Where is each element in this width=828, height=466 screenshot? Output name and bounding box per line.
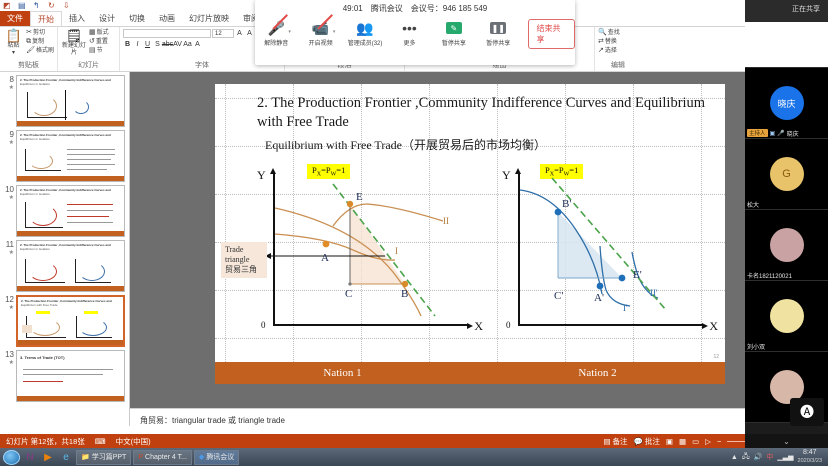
grow-font-icon[interactable]: A [235,29,244,38]
x-axis-line [273,324,467,326]
ribbon-group-clipboard: 📋 粘贴 ▾ ✂剪切 ⧉复制 🖌格式刷 剪贴板 [0,27,58,71]
thumbnail-card[interactable]: 2. The Production Frontier ,Community In… [16,75,125,127]
nation-1-label: Nation 1 [215,362,470,384]
animation-star-icon: ★ [2,359,14,368]
reading-view-icon[interactable]: ▭ [692,437,699,446]
x-axis-line [518,324,702,326]
thumbnail-item-selected[interactable]: 12★ 2. The Production Frontier ,Communit… [0,292,129,347]
slide-count-label: 幻灯片 第12张，共18张 [6,436,85,447]
thumbnail-number: 13★ [2,350,16,402]
bold-icon[interactable]: B [123,40,132,49]
thumbnail-artwork [21,90,120,119]
chevron-down-icon: ⌄ [783,437,790,446]
onenote-icon[interactable]: N [22,450,38,465]
point-A-prime-marker [597,283,604,290]
share-pause-control[interactable]: ❚❚ 暂停共享 [477,19,519,47]
ribbon-group-editing: 🔍查找 ⇄替换 ↗选择 编辑 [595,27,641,71]
ribbon-group-slides: 🗒 新建幻灯片 ▦版式 ↺重置 ▤节 幻灯片 [58,27,120,71]
tab-transitions-label: 切换 [129,13,145,24]
participant-name: 晓庆 [787,129,799,138]
ime-icon[interactable]: 中 [766,452,773,462]
point-label-C: C [345,288,352,300]
tab-transitions[interactable]: 切换 [122,11,152,26]
video-panel-header: 正在共享 [745,0,828,22]
sharing-status-badge: 正在共享 [786,2,826,16]
meeting-header: 49:01 腾讯会议 会议号：946 185 549 [255,0,575,17]
thumbnail-card[interactable]: 2. The Production Frontier ,Community In… [16,130,125,182]
format-painter-button[interactable]: 🖌格式刷 [26,47,54,55]
screen-root: ◩ ▤ ↰ ↻ ⇩ 文件 开始 插入 设计 切换 动画 幻灯片放映 审阅 视图 … [0,0,828,466]
tencent-meeting-icon: ◆ [199,453,204,461]
animation-star-icon: ★ [2,304,14,313]
participant-name: 卡名1821120021 [747,271,792,280]
windows-start-icon[interactable] [3,450,20,465]
shadow-icon[interactable]: S [153,40,162,49]
zoom-out-button[interactable]: − [717,437,721,446]
chart-nation-1[interactable]: Y X 0 PX=PW=1 [245,164,475,344]
powerpoint-window: ◩ ▤ ↰ ↻ ⇩ 文件 开始 插入 设计 切换 动画 幻灯片放映 审阅 视图 … [0,0,745,466]
camera-control-label: 开启视频 [309,38,333,47]
video-tile-list[interactable]: 晓庆 主持人 ▣ 🎤 晓庆 G 松大 卡名1821120021 [745,22,828,434]
save-icon[interactable]: ▤ [18,1,27,10]
indifference-curve-I [600,246,630,306]
more-dots-icon: ••• [402,19,417,37]
thumbnail-footer-bar [18,340,123,345]
tab-slideshow[interactable]: 幻灯片放映 [182,11,236,26]
thumbnail-artwork [21,255,120,284]
thumbnail-item[interactable]: 8★ 2. The Production Frontier ,Community… [0,72,129,127]
participant-nameplate: 刘小双 [745,341,828,351]
meeting-toolbar[interactable]: 49:01 腾讯会议 会议号：946 185 549 🎤▾ 解除静音 📹▾ 开启… [255,0,575,65]
paste-caret-icon[interactable]: ▾ [12,50,15,57]
trade-triangle-en: Trade triangle [225,245,263,265]
y-axis-label: Y [502,168,511,183]
spellcheck-icon[interactable]: ⌨ [95,437,106,446]
underline-icon[interactable]: U [143,40,152,49]
share-annotate-control[interactable]: ✎ 暂停共享 [433,19,475,47]
video-participants-panel: 正在共享 晓庆 主持人 ▣ 🎤 晓庆 G 松大 [745,0,828,448]
slideshow-icon[interactable]: ▷ [705,437,711,446]
animation-star-icon: ★ [2,249,14,258]
thumbnail-number-text: 9 [10,130,14,139]
taskbar-item-meeting[interactable]: ◆腾讯会议 [194,450,239,465]
volume-icon[interactable]: 🔊 [754,453,763,461]
sorter-view-icon[interactable]: ▦ [679,437,686,446]
tab-file-label: 文件 [7,13,23,24]
participant-name: 松大 [747,200,759,209]
camera-off-icon: 📹▾ [312,19,329,37]
section-label: 节 [97,47,103,55]
thumbnail-card[interactable]: 3. Terms of Trade (TOT) [16,350,125,402]
redo-icon[interactable]: ↻ [48,1,57,10]
avatar-text: 晓庆 [777,97,795,110]
point-E-prime-marker [619,275,626,282]
nation-2-label: Nation 2 [470,362,725,384]
thumbnail-artwork [21,200,120,229]
tab-design-label: 设计 [99,13,115,24]
thumbnail-card[interactable]: 2. The Production Frontier ,Community In… [16,185,125,237]
slide-page-number: 12 [713,354,719,360]
slide-thumbnail-panel[interactable]: 8★ 2. The Production Frontier ,Community… [0,72,130,426]
x-axis-label: X [709,319,718,334]
video-tile[interactable]: 卡名1821120021 [745,210,828,281]
find-label: 查找 [608,29,620,37]
thumbnail-title: 3. Terms of Trade (TOT) [17,351,124,360]
avatar [770,299,804,333]
tab-home-label: 开始 [38,14,54,25]
change-case-icon[interactable]: Aa [183,40,192,49]
reset-icon: ↺ [89,38,95,46]
thumbnail-subtitle: Equilibrium in Isolation [17,137,124,141]
tab-home[interactable]: 开始 [30,11,62,26]
nation-footer-bar: Nation 1 Nation 2 [215,362,725,384]
meeting-id-label: 会议号：946 185 549 [411,3,488,14]
thumbnail-item[interactable]: 9★ 2. The Production Frontier ,Community… [0,127,129,182]
participant-nameplate: 松大 [745,199,828,209]
system-tray: ▲ 🖧 🔊 中 ▁▃▅ 8:47 2020/3/23 [731,449,825,465]
curve-label-I: I [395,246,398,256]
clock-date: 2020/3/23 [798,458,822,464]
section-icon: ▤ [89,47,96,55]
font-name-input[interactable] [123,29,211,38]
taskbar-item-folder-label: 学习篇PPT [92,452,127,462]
thumbnail-footer-bar [17,396,124,401]
italic-icon[interactable]: I [133,40,142,49]
x-axis-arrow-icon [702,323,708,329]
tab-design[interactable]: 设计 [92,11,122,26]
share-on-icon: ✎ [446,19,462,37]
replace-button[interactable]: ⇄替换 [598,38,620,46]
price-tag-nation-2: PX=PW=1 [540,164,583,179]
host-badge: 主持人 [747,129,768,137]
paste-button[interactable]: 📋 粘贴 ▾ [3,29,24,57]
select-icon: ↗ [598,47,604,55]
chart-nation-2[interactable]: Y X 0 PX=PW=1 [490,164,710,344]
font-size-input[interactable]: 12 [212,29,234,38]
thumbnail-number: 12★ [2,295,16,347]
share-annotate-label: 暂停共享 [442,38,466,47]
trade-triangle-callout: Trade triangle 贸易三角 [221,242,267,278]
y-axis-arrow-icon [515,168,521,174]
animation-star-icon: ★ [2,139,14,148]
participants-control[interactable]: 👥 管理成员(32) [344,19,386,47]
meeting-app-name: 腾讯会议 [371,3,403,14]
format-painter-icon: 🖌 [26,47,35,55]
participants-icon: 👥 [356,19,373,37]
point-label-B: B [401,288,408,300]
copy-icon: ⧉ [26,38,31,46]
speaker-notes-text: 角贸易：triangular trade 或 triangle trade [140,416,285,425]
point-label-A-prime: A' [594,292,604,304]
cut-button[interactable]: ✂剪切 [26,29,54,37]
trade-triangle-fill [350,204,405,284]
video-tile-host[interactable]: 晓庆 主持人 ▣ 🎤 晓庆 [745,68,828,139]
scissors-icon: ✂ [26,29,32,37]
thumbnail-item[interactable]: 10★ 2. The Production Frontier ,Communit… [0,182,129,237]
slide-subtitle[interactable]: Equilibrium with Free Trade（开展贸易后的市场均衡） [265,136,546,153]
y-axis-label: Y [257,168,266,183]
layout-button[interactable]: ▦版式 [89,29,109,37]
origin-label: 0 [506,320,511,330]
curve-label-I-prime: I' [623,303,628,313]
notes-icon: ▤ [603,437,610,446]
app-float-logo-icon[interactable]: 🅐 [790,398,824,426]
point-B-marker [402,281,408,287]
taskbar-item-folder[interactable]: 📁学习篇PPT [76,450,131,465]
thumbnail-subtitle: Equilibrium in Isolation [17,247,124,251]
participant-nameplate: 主持人 ▣ 🎤 晓庆 [745,128,828,138]
thumbnail-number-text: 8 [10,75,14,84]
paste-label: 粘贴 [8,43,20,50]
thumbnail-artwork [21,365,120,394]
strikethrough-icon[interactable]: abc [163,40,172,49]
select-button[interactable]: ↗选择 [598,47,620,55]
mic-control[interactable]: 🎤▾ 解除静音 [255,19,297,47]
tab-insert[interactable]: 插入 [62,11,92,26]
new-slide-label: 新建幻灯片 [61,43,87,57]
animation-star-icon: ★ [2,84,14,93]
media-player-icon[interactable]: ▶ [40,450,56,465]
copy-label: 复制 [32,38,44,46]
thumbnail-artwork [21,145,120,174]
new-slide-icon: 🗒 [66,29,83,43]
reset-label: 重置 [96,38,108,46]
point-E-marker [347,201,353,207]
meeting-timer: 49:01 [343,4,363,13]
curve-label-II: II [443,216,449,226]
participant-nameplate: 卡名1821120021 [745,270,828,280]
point-C-marker [348,282,351,285]
end-share-label: 结束共享 [537,24,561,44]
tab-insert-label: 插入 [69,13,85,24]
thumbnail-footer-bar [17,231,124,236]
taskbar-item-meeting-label: 腾讯会议 [206,452,234,462]
point-label-C-prime: C' [554,290,563,302]
select-label: 选择 [605,47,617,55]
format-painter-label: 格式刷 [36,47,54,55]
production-frontier-curve [520,190,602,294]
powerpoint-app-icon: ◩ [3,1,12,10]
point-label-E: E [356,191,363,203]
participants-control-label: 管理成员(32) [348,38,383,47]
video-tile[interactable]: G 松大 [745,139,828,210]
camera-caret-icon[interactable]: ▾ [333,29,336,35]
folder-icon: 📁 [81,453,90,461]
thumbnail-number-text: 13 [5,350,14,359]
video-tile[interactable] [745,22,828,68]
avatar: G [770,157,804,191]
thumbnail-number-text: 12 [5,295,14,304]
thumbnail-number-text: 11 [6,240,14,249]
new-slide-button[interactable]: 🗒 新建幻灯片 [61,29,87,57]
animation-star-icon: ★ [2,194,14,203]
slide-title[interactable]: 2. The Production Frontier ,Community In… [257,94,707,132]
status-bar: 幻灯片 第12张，共18张 ⌨ 中文(中国) ▤备注 💬批注 ▣ ▦ ▭ ▷ −… [0,434,828,448]
shrink-font-icon[interactable]: A [245,29,254,38]
section-button[interactable]: ▤节 [89,47,109,55]
cut-label: 剪切 [33,29,45,37]
font-color-icon[interactable]: A [193,40,202,49]
taskbar-item-powerpoint[interactable]: PChapter 4 T... [133,450,192,465]
char-spacing-icon[interactable]: AV [173,40,182,49]
thumbnail-card[interactable]: 2. The Production Frontier ,Community In… [16,295,125,347]
thumbnail-item[interactable]: 11★ 2. The Production Frontier ,Communit… [0,237,129,292]
find-button[interactable]: 🔍查找 [598,29,620,37]
avatar: 晓庆 [770,86,804,120]
point-A-marker [323,241,330,248]
mic-control-label: 解除静音 [264,38,288,47]
copy-button[interactable]: ⧉复制 [26,38,54,46]
clipboard-icon: 📋 [5,29,21,43]
thumbnail-footer-bar [17,286,124,291]
participant-name: 刘小双 [747,342,765,351]
avatar-text: G [782,168,791,180]
thumbnail-footer-bar [17,121,124,126]
thumbnail-subtitle: Equilibrium in Isolation [17,192,124,196]
video-panel-expand-button[interactable]: ⌄ [745,434,828,448]
layout-icon: ▦ [89,29,96,37]
end-share-button[interactable]: 结束共享 [528,19,576,49]
tab-slideshow-label: 幻灯片放映 [189,13,229,24]
comments-label: 批注 [645,436,660,447]
thumbnail-subtitle: Equilibrium with Free Trade [18,303,123,307]
point-label-E-prime: E' [633,269,642,281]
taskbar-item-powerpoint-label: Chapter 4 T... [145,454,187,461]
mic-muted-icon: 🎤 [777,130,784,137]
point-B-prime-marker [555,209,562,216]
mic-muted-icon: 🎤▾ [267,19,284,37]
signal-icon[interactable]: ▁▃▅ [777,453,793,461]
powerpoint-icon: P [138,454,143,461]
thumbnail-artwork [22,311,119,338]
point-label-A: A [321,252,329,264]
editing-group-label: 编辑 [598,60,638,71]
taskbar-clock[interactable]: 8:47 2020/3/23 [798,449,822,465]
more-control-label: 更多 [403,38,415,47]
thumbnail-number-text: 10 [5,185,14,194]
chart-nation-2-graphics [490,164,710,344]
camera-off-icon: ▣ [770,130,776,137]
thumbnail-number: 10★ [2,185,16,237]
meeting-controls: 🎤▾ 解除静音 📹▾ 开启视频 👥 管理成员(32) ••• 更多 ✎ 暂停共享… [255,17,575,49]
video-tile[interactable]: 刘小双 [745,281,828,352]
thumbnail-item[interactable]: 13★ 3. Terms of Trade (TOT) [0,347,129,402]
indifference-curve-II [333,204,443,226]
x-axis-label: X [474,319,483,334]
thumbnail-number: 9★ [2,130,16,182]
more-control[interactable]: ••• 更多 [388,19,430,47]
network-icon[interactable]: 🖧 [742,452,750,463]
thumbnail-number: 11★ [2,240,16,292]
avatar [770,228,804,262]
replace-label: 替换 [605,38,617,46]
thumbnail-subtitle: Equilibrium in Isolation [17,82,124,86]
search-icon: 🔍 [598,29,607,37]
thumbnail-footer-bar [17,176,124,181]
mic-caret-icon[interactable]: ▾ [288,29,291,35]
clock-time: 8:47 [803,449,817,456]
speaker-notes-pane[interactable]: 角贸易：triangular trade 或 triangle trade [130,408,745,434]
tab-animations[interactable]: 动画 [152,11,182,26]
share-pause-label: 暂停共享 [486,38,510,47]
point-label-B-prime: B' [562,198,571,210]
replace-icon: ⇄ [598,38,604,46]
ie-icon[interactable]: e [58,450,74,465]
slides-group-label: 幻灯片 [61,60,116,71]
y-axis-arrow-icon [270,168,276,174]
notes-label: 备注 [613,436,628,447]
curve-label-II-prime: II' [650,288,658,298]
undo-icon[interactable]: ↰ [33,1,42,10]
price-tag-nation-1: PX=PW=1 [307,164,350,179]
origin-label: 0 [261,320,266,330]
trade-triangle-cn: 贸易三角 [225,265,263,275]
show-hidden-icon[interactable]: ▲ [731,454,738,461]
layout-label: 版式 [97,29,109,37]
camera-control[interactable]: 📹▾ 开启视频 [299,19,341,47]
reset-button[interactable]: ↺重置 [89,38,109,46]
slide-canvas-area: 2. The Production Frontier ,Community In… [130,72,745,408]
y-axis-line [518,174,520,326]
share-pause-icon: ❚❚ [490,19,506,37]
windows-taskbar: N ▶ e 📁学习篇PPT PChapter 4 T... ◆腾讯会议 ▲ 🖧 … [0,448,828,466]
comment-icon: 💬 [634,437,643,446]
font-size-value: 12 [215,31,222,37]
language-label[interactable]: 中文(中国) [116,436,151,447]
current-slide[interactable]: 2. The Production Frontier ,Community In… [215,84,725,384]
tab-animations-label: 动画 [159,13,175,24]
trade-triangle-fill [558,212,622,278]
customize-qat-icon[interactable]: ⇩ [63,1,72,10]
normal-view-icon[interactable]: ▣ [666,437,673,446]
notes-button[interactable]: ▤备注 [603,436,627,447]
x-axis-arrow-icon [467,323,473,329]
indifference-curve-I [275,234,395,260]
y-axis-line [273,174,275,326]
comments-button[interactable]: 💬批注 [634,436,660,447]
tab-file[interactable]: 文件 [0,11,30,26]
clipboard-group-label: 剪贴板 [3,60,54,71]
thumbnail-card[interactable]: 2. The Production Frontier ,Community In… [16,240,125,292]
thumbnail-number: 8★ [2,75,16,127]
